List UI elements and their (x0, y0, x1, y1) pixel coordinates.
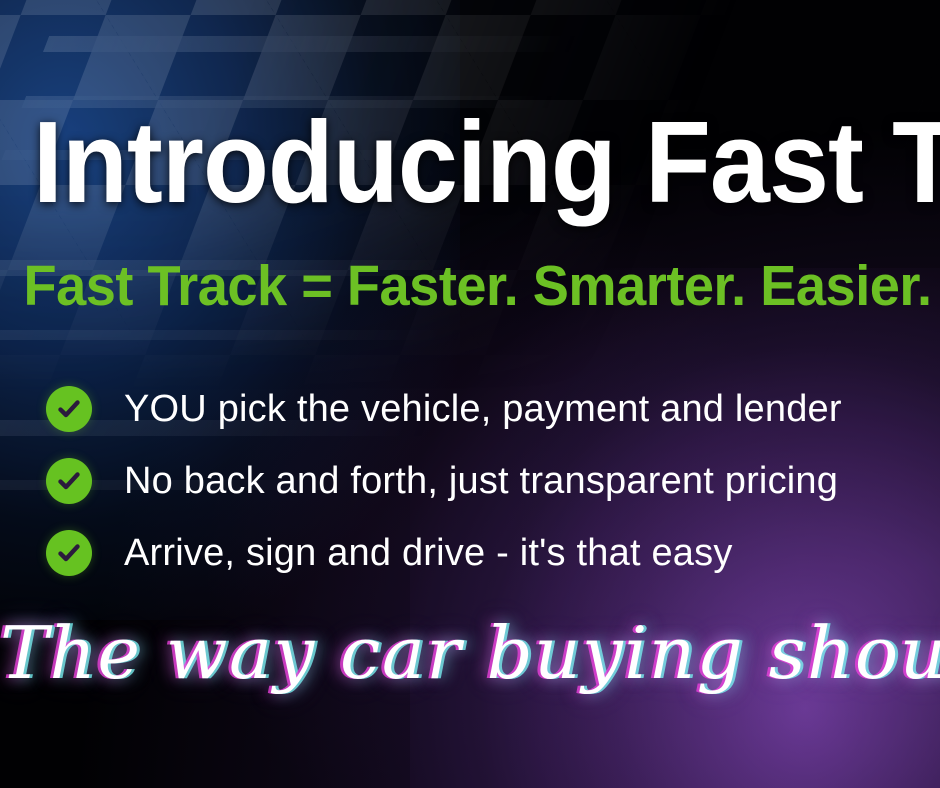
check-circle-icon (46, 458, 92, 504)
list-item: Arrive, sign and drive - it's that easy (46, 517, 906, 589)
promo-poster: Introducing Fast Track Fast Track = Fast… (0, 0, 940, 788)
list-item: YOU pick the vehicle, payment and lender (46, 373, 906, 445)
page-title: Introducing Fast Track (33, 104, 907, 220)
poster-content: Introducing Fast Track Fast Track = Fast… (0, 0, 940, 788)
subtitle: Fast Track = Faster. Smarter. Easier. (24, 258, 917, 315)
check-circle-icon (46, 530, 92, 576)
list-item-label: No back and forth, just transparent pric… (124, 462, 838, 500)
list-item: No back and forth, just transparent pric… (46, 445, 906, 517)
list-item-label: YOU pick the vehicle, payment and lender (124, 390, 842, 428)
tagline-container: The way car buying should be. (0, 608, 940, 718)
check-circle-icon (46, 386, 92, 432)
benefit-list: YOU pick the vehicle, payment and lender… (46, 373, 906, 589)
tagline: The way car buying should be. (0, 608, 940, 698)
list-item-label: Arrive, sign and drive - it's that easy (124, 534, 733, 572)
